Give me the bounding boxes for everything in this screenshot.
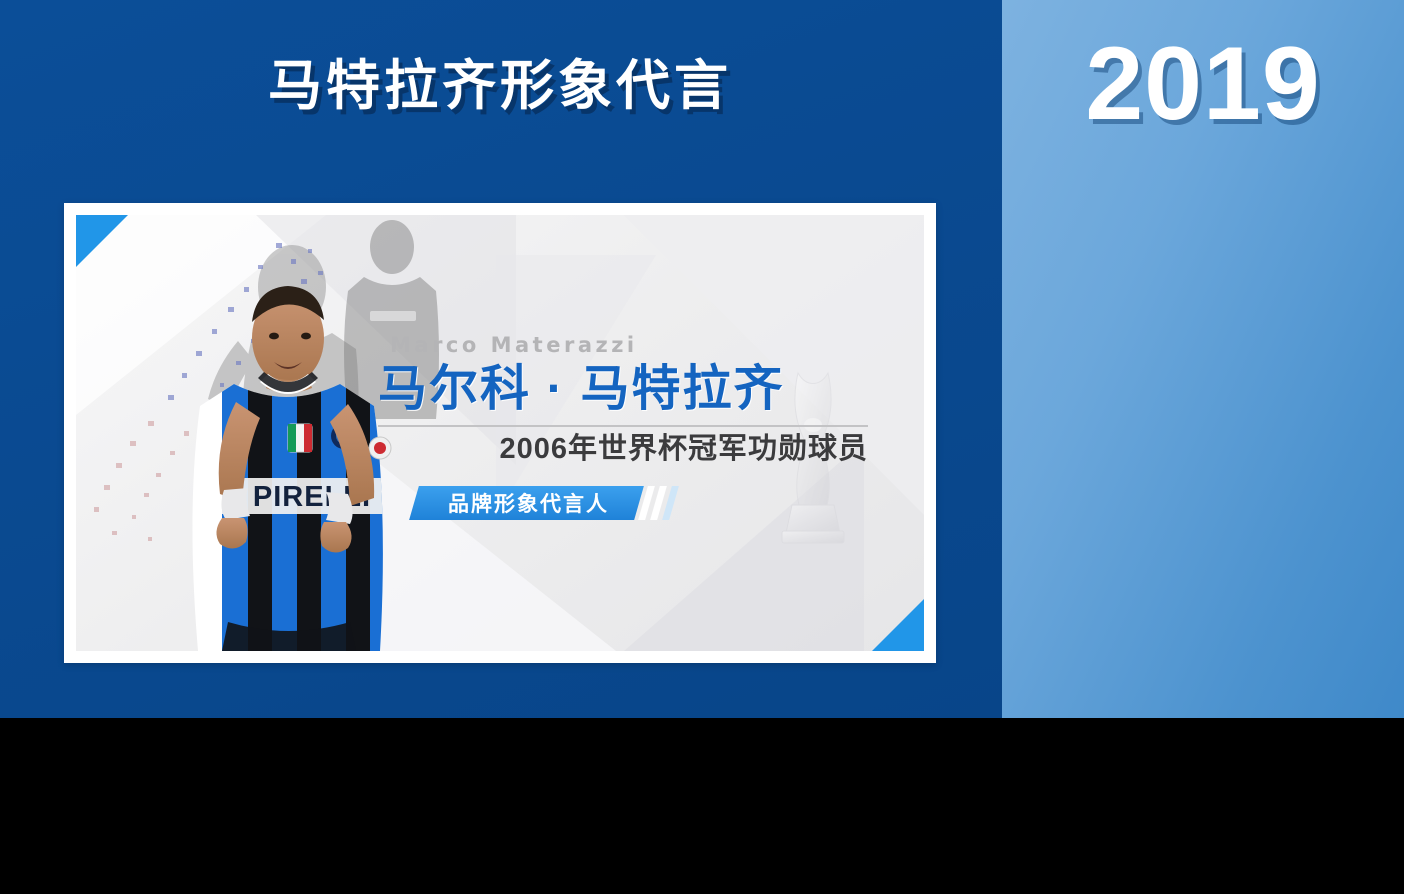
year-panel: 2019 (1002, 0, 1404, 718)
poster-subtitle: 2006年世界杯冠军功勋球员 (378, 433, 868, 466)
slide-stage: 2019 马特拉齐形象代言 (0, 0, 1404, 894)
page-title: 马特拉齐形象代言 (64, 58, 936, 115)
poster-frame: PIRELLI (64, 203, 936, 663)
poster-text-block: Marco Materazzi 马尔科 · 马特拉齐 2006年世界杯冠军功勋球… (378, 333, 868, 466)
divider (378, 425, 868, 427)
chinese-name: 马尔科 · 马特拉齐 (378, 363, 868, 416)
poster-image: PIRELLI (76, 215, 924, 651)
letterbox-band (0, 718, 1404, 894)
presentation-slide: 2019 马特拉齐形象代言 (0, 0, 1404, 718)
slash-stripes-icon (643, 486, 679, 520)
latin-name: Marco Materazzi (390, 333, 868, 357)
year-label: 2019 (1002, 32, 1404, 136)
triangle-accent-icon (872, 599, 924, 651)
spokesperson-ribbon: 品牌形象代言人 (414, 486, 679, 520)
ribbon-body: 品牌形象代言人 (409, 486, 644, 520)
ribbon-label: 品牌形象代言人 (448, 488, 609, 518)
materazzi-photo: PIRELLI (162, 266, 412, 651)
